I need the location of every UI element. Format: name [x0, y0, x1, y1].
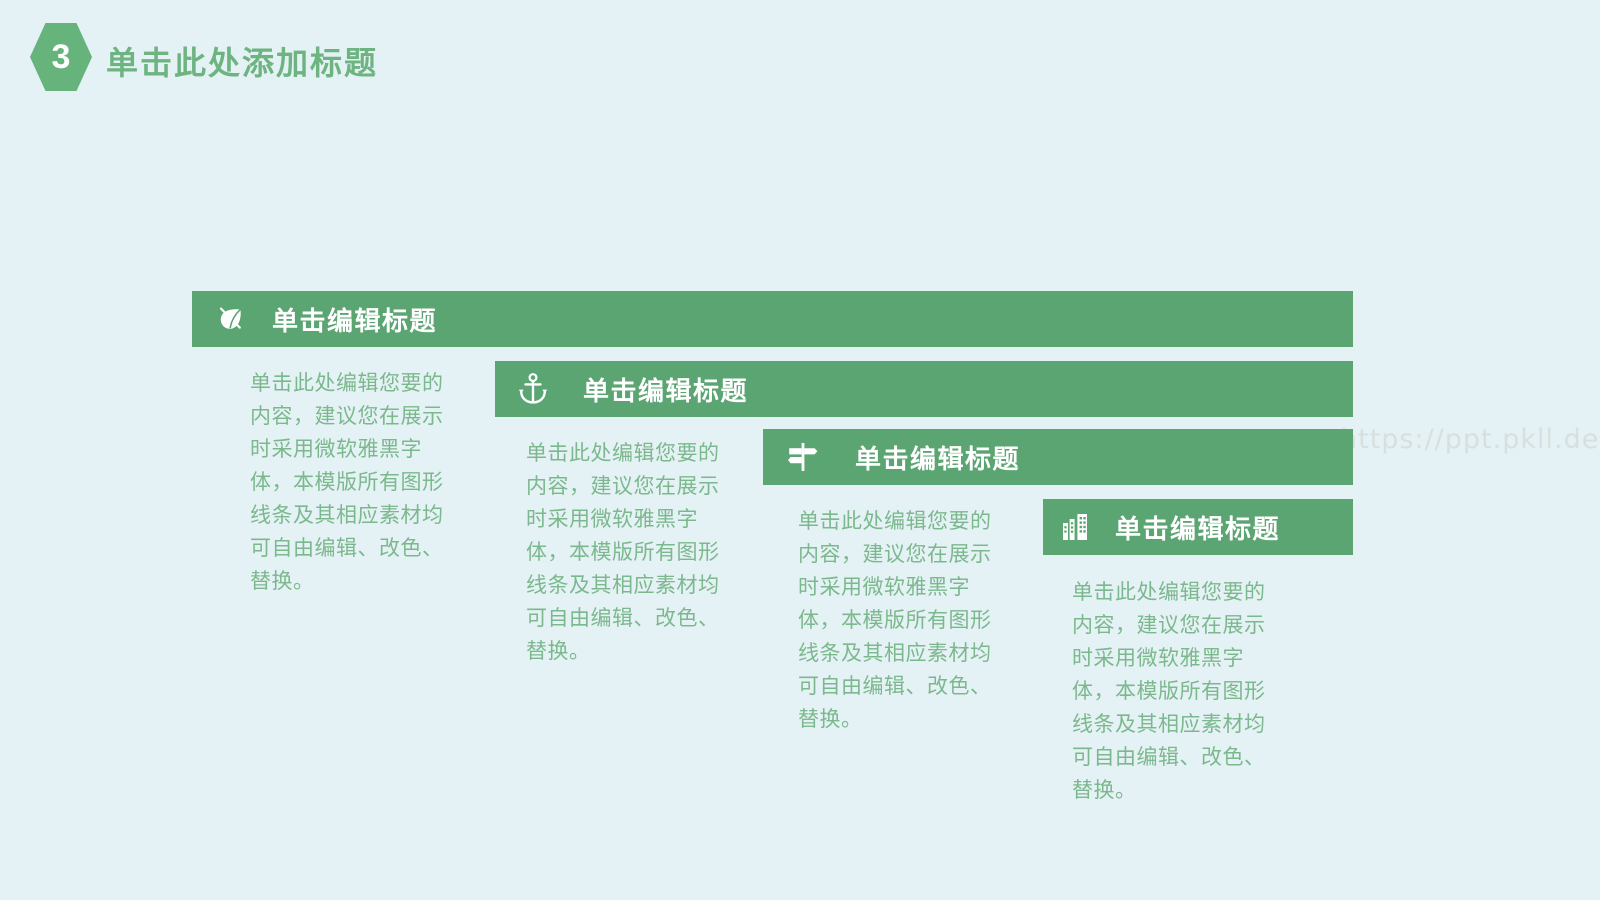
- section-bar-1-label: 单击编辑标题: [272, 301, 437, 338]
- section-body-text-3: 单击此处编辑您要的内容，建议您在展示时采用微软雅黑字体，本模版所有图形线条及其相…: [798, 505, 1010, 736]
- signpost-icon: [783, 437, 823, 477]
- section-body-text-4: 单击此处编辑您要的内容，建议您在展示时采用微软雅黑字体，本模版所有图形线条及其相…: [1072, 576, 1284, 807]
- hexagon-step-badge: 3: [30, 23, 92, 91]
- section-bar-4[interactable]: 单击编辑标题: [1043, 499, 1353, 555]
- section-bar-3-label: 单击编辑标题: [855, 439, 1020, 476]
- section-bar-3[interactable]: 单击编辑标题: [763, 429, 1353, 485]
- anchor-icon: [513, 369, 553, 409]
- slide-header: 3 单击此处添加标题: [0, 0, 1600, 120]
- section-bar-2[interactable]: 单击编辑标题: [495, 361, 1353, 417]
- section-body-text-2: 单击此处编辑您要的内容，建议您在展示时采用微软雅黑字体，本模版所有图形线条及其相…: [526, 437, 738, 668]
- section-bar-1[interactable]: 单击编辑标题: [192, 291, 1353, 347]
- step-number: 3: [52, 40, 71, 74]
- section-body-text-1: 单击此处编辑您要的内容，建议您在展示时采用微软雅黑字体，本模版所有图形线条及其相…: [250, 367, 462, 598]
- buildings-icon: [1057, 507, 1097, 547]
- page-title: 单击此处添加标题: [106, 38, 378, 84]
- leaf-icon: [210, 299, 250, 339]
- section-bar-2-label: 单击编辑标题: [583, 371, 748, 408]
- section-bar-4-label: 单击编辑标题: [1115, 509, 1280, 546]
- watermark-url: https://ppt.pkll.de: [1340, 424, 1599, 455]
